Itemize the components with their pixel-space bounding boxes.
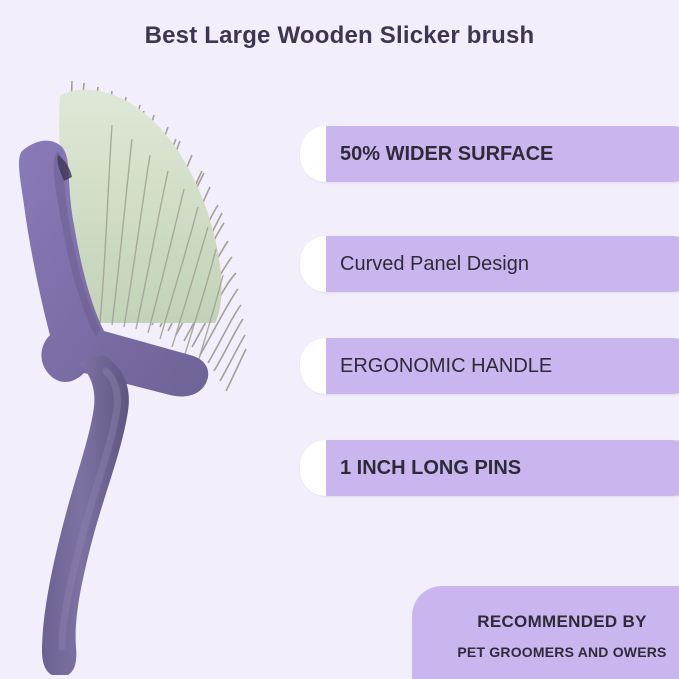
feature-pill-4: 1 INCH LONG PINS: [300, 440, 679, 496]
feature-pill-4-label: 1 INCH LONG PINS: [340, 457, 521, 480]
feature-pill-1-label: 50% WIDER SURFACE: [340, 143, 553, 166]
page-title: Best Large Wooden Slicker brush: [0, 22, 679, 50]
feature-pill-2-label: Curved Panel Design: [340, 253, 529, 276]
recommended-badge: RECOMMENDED BY PET GROOMERS AND OWERS: [412, 586, 679, 679]
feature-pill-3: ERGONOMIC HANDLE: [300, 338, 679, 394]
feature-pill-2: Curved Panel Design: [300, 236, 679, 292]
brush-illustration-svg: [0, 55, 300, 675]
recommended-badge-subtitle: PET GROOMERS AND OWERS: [457, 644, 666, 660]
feature-pill-3-label: ERGONOMIC HANDLE: [340, 355, 552, 378]
feature-pill-1: 50% WIDER SURFACE: [300, 126, 679, 182]
product-image-slicker-brush: [0, 55, 300, 675]
recommended-badge-title: RECOMMENDED BY: [477, 612, 647, 632]
product-feature-image: Best Large Wooden Slicker brush: [0, 0, 679, 679]
